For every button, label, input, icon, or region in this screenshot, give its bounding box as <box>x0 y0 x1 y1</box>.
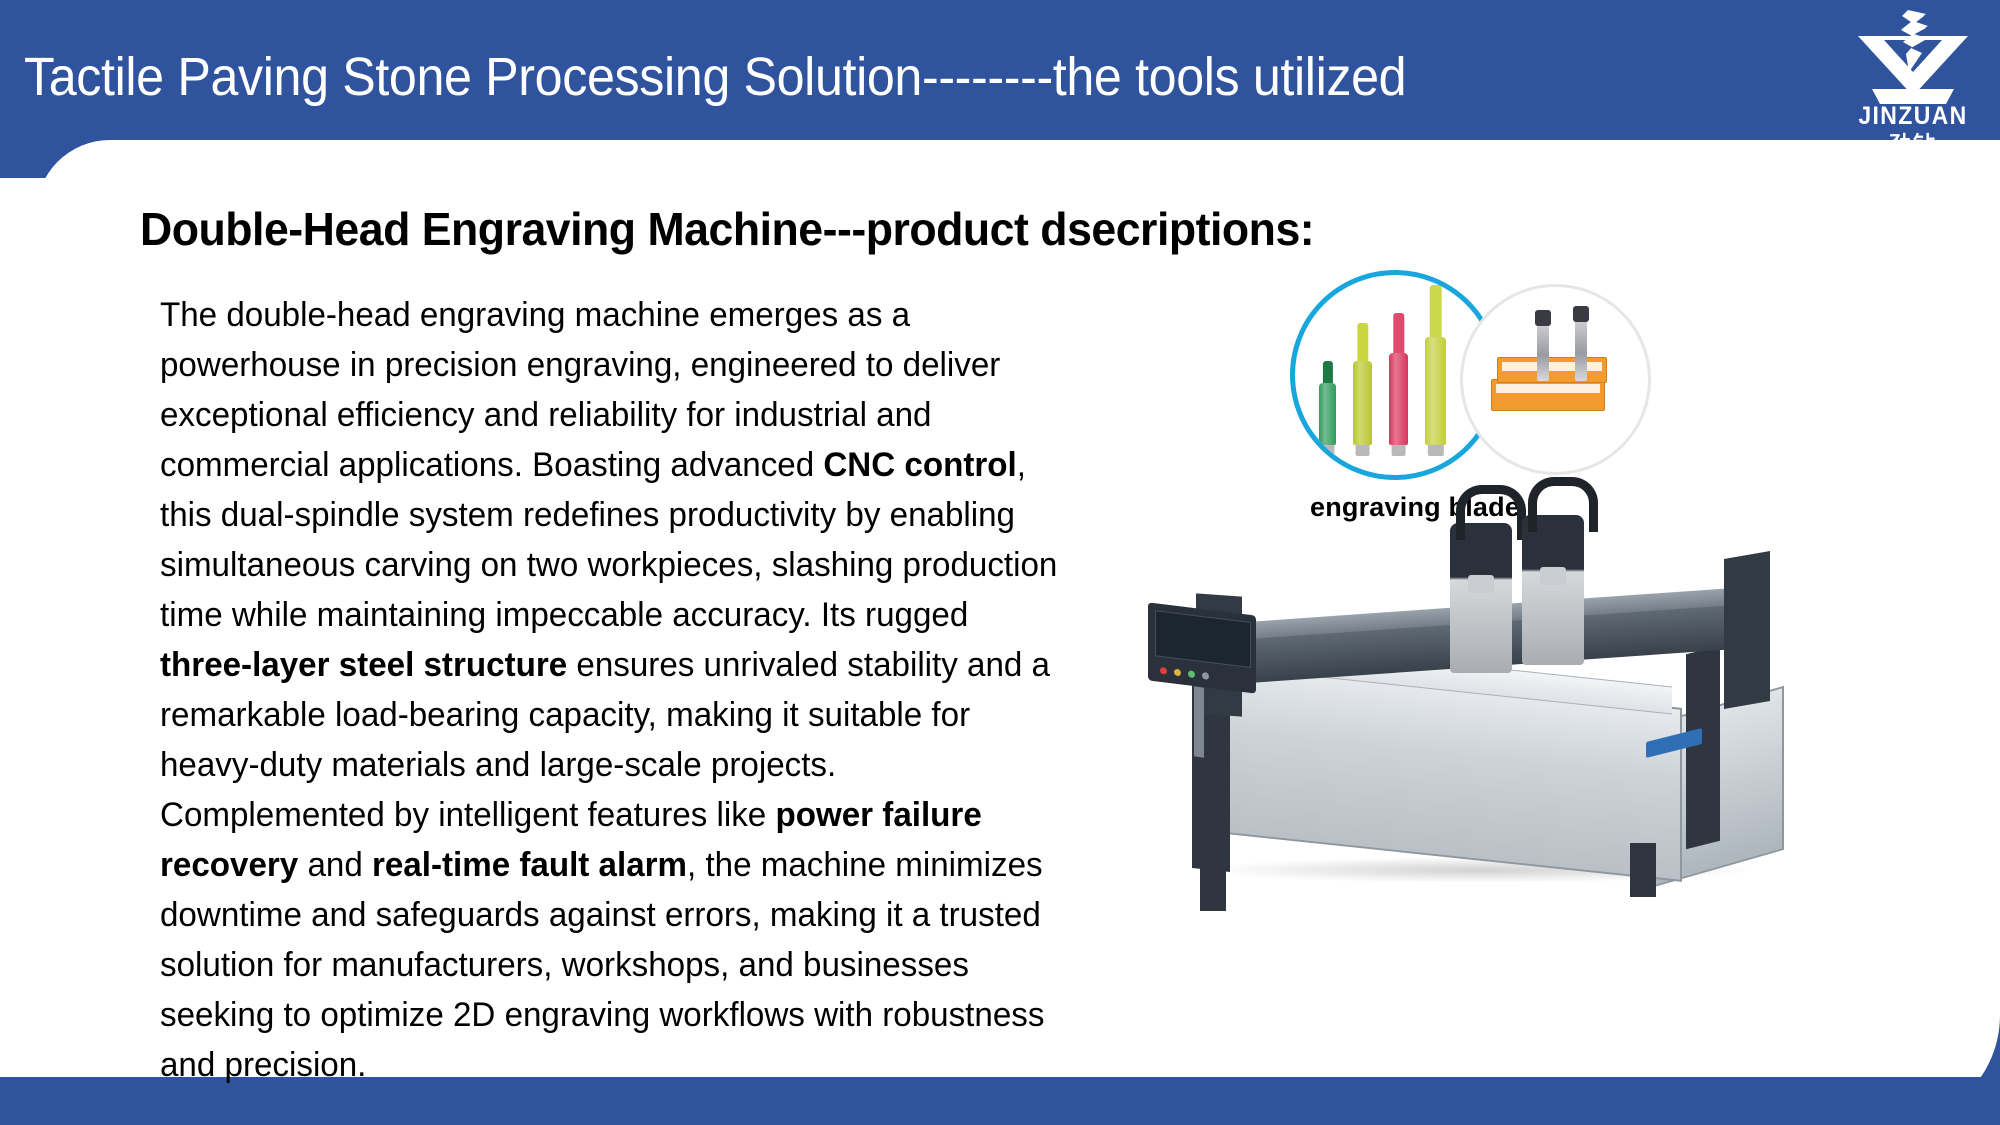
product-description-paragraph: The double-head engraving machine emerge… <box>160 290 1067 1090</box>
page-title: Tactile Paving Stone Processing Solution… <box>24 46 1406 108</box>
engraving-bit-tip-2 <box>1357 323 1368 361</box>
engraving-bit-tip-3 <box>1393 313 1404 353</box>
drill-bit-in-v-icon <box>1854 10 1972 104</box>
tool-case-label-2 <box>1502 362 1602 371</box>
section-heading: Double-Head Engraving Machine---product … <box>140 202 1314 256</box>
machine-foot-left <box>1200 857 1226 911</box>
machine-column-right <box>1724 551 1770 709</box>
machine-hose-1 <box>1456 485 1526 540</box>
tool-head-right <box>1573 306 1589 322</box>
engraving-bit-tip-1 <box>1322 361 1332 383</box>
machine-foot-right <box>1630 843 1656 897</box>
machine-panel-button-grey <box>1202 672 1209 680</box>
logo-chinese-name: 劲钻 <box>1838 127 1988 159</box>
machine-panel-button-green <box>1188 670 1195 678</box>
figure-group: engraving blade <box>1130 270 1980 960</box>
machine-head-crown-2 <box>1540 567 1566 585</box>
paragraph-emphasis: three-layer steel structure <box>160 646 567 684</box>
tool-case-label <box>1496 384 1600 393</box>
machine-panel-screen <box>1155 610 1251 668</box>
engraving-bit-tip-4 <box>1429 285 1442 337</box>
engraving-tool-right <box>1575 319 1587 381</box>
machine-head-crown-1 <box>1468 575 1494 593</box>
machine-panel-button-yellow <box>1174 669 1181 677</box>
machine-spindle-head-2 <box>1522 515 1584 665</box>
brand-logo: JINZUAN 劲钻 <box>1838 10 1988 145</box>
slide-canvas: Tactile Paving Stone Processing Solution… <box>0 0 2000 1125</box>
machine-spindle-head-1 <box>1450 523 1512 673</box>
paragraph-emphasis: CNC control <box>823 446 1016 484</box>
paragraph-text: and <box>298 846 372 884</box>
machine-hose-2 <box>1528 477 1598 532</box>
double-head-engraving-machine-photo <box>1130 405 1840 925</box>
paragraph-emphasis: real-time fault alarm <box>372 846 687 884</box>
machine-panel-arm <box>1194 686 1204 757</box>
engraving-tool-left <box>1537 323 1549 381</box>
machine-control-panel <box>1148 602 1256 693</box>
machine-frame-right <box>1686 646 1720 849</box>
machine-panel-button-red <box>1160 667 1167 675</box>
tool-head-left <box>1535 310 1551 326</box>
tool-case-upper <box>1497 357 1607 383</box>
